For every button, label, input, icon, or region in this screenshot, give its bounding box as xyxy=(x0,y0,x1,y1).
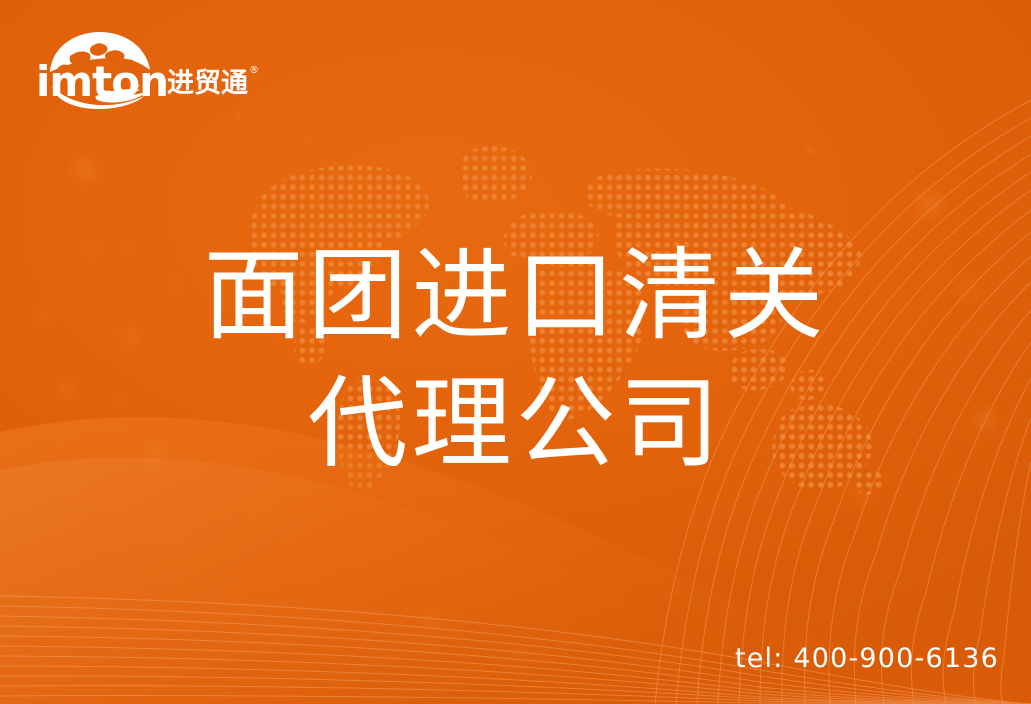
svg-text:imton: imton xyxy=(36,57,166,106)
headline: 面团进口清关 代理公司 xyxy=(0,232,1031,488)
promo-banner: imton 进贸通 ® 面团进口清关 代理公司 tel: 400-900-613… xyxy=(0,0,1031,704)
brand-logo[interactable]: imton 进贸通 ® xyxy=(36,26,246,112)
headline-line-1: 面团进口清关 xyxy=(0,232,1031,360)
contact-phone[interactable]: tel: 400-900-6136 xyxy=(735,643,999,674)
headline-line-2: 代理公司 xyxy=(0,360,1031,488)
logo-chinese-name: 进贸通 xyxy=(167,70,248,97)
registered-trademark-icon: ® xyxy=(249,66,259,76)
imton-wordmark: imton xyxy=(36,26,166,112)
